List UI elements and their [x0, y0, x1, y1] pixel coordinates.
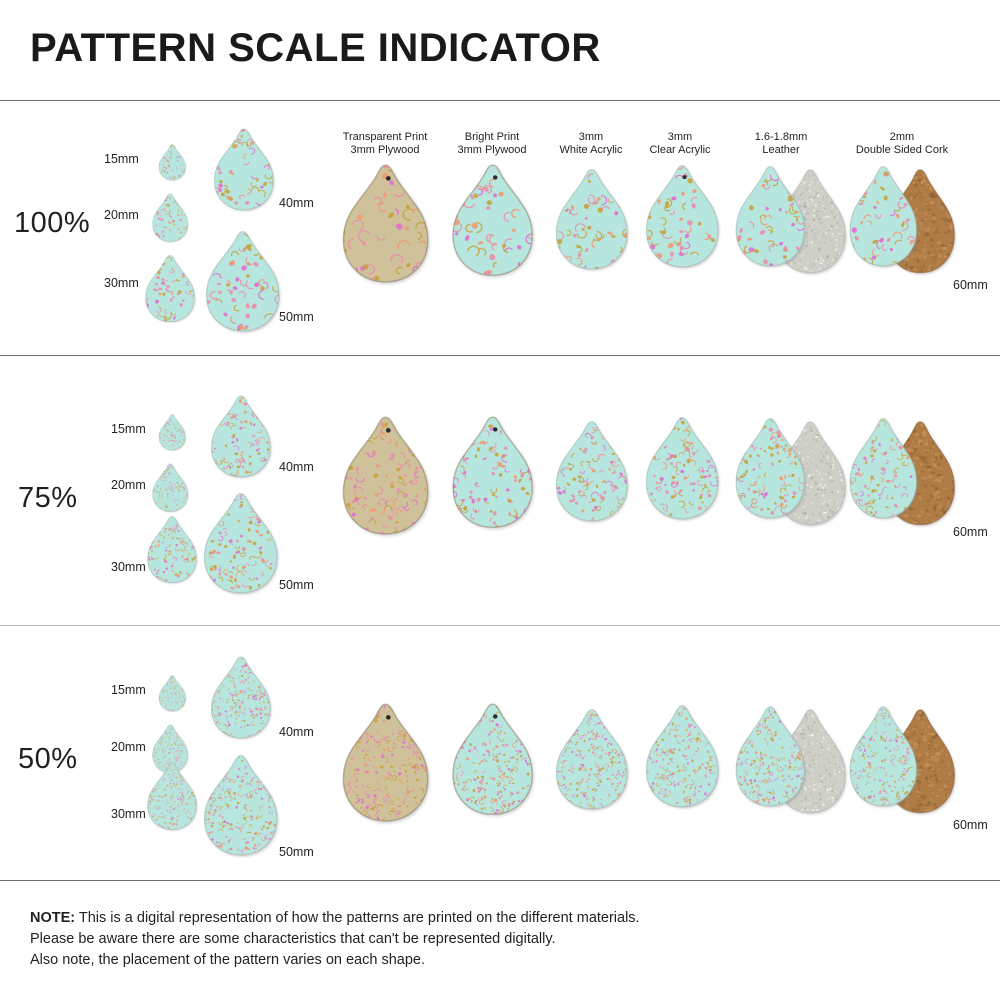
- column-header-double-sided-cork: 2mm Double Sided Cork: [832, 131, 972, 157]
- material-drop-cork-row75: [845, 415, 923, 523]
- page-title: PATTERN SCALE INDICATOR: [30, 28, 601, 68]
- scale-label-100: 100%: [14, 207, 90, 240]
- column-header-line1: Transparent Print: [343, 131, 428, 143]
- divider-row-100-75: [0, 355, 1000, 356]
- size-label-15mm-row50: 15mm: [111, 683, 146, 697]
- divider-top: [0, 100, 1000, 101]
- material-drop-white-acrylic-row50: [551, 706, 634, 814]
- size-label-15mm-row100: 15mm: [104, 152, 139, 166]
- note-line-3: Also note, the placement of the pattern …: [30, 950, 640, 971]
- material-drop-leather-row100: [731, 163, 811, 271]
- divider-row-75-50: [0, 625, 1000, 626]
- divider-bottom: [0, 880, 1000, 881]
- size-label-30mm-row50: 30mm: [111, 807, 146, 821]
- size-label-30mm-row75: 30mm: [111, 560, 146, 574]
- column-header-line2: Double Sided Cork: [832, 144, 972, 157]
- size-label-20mm-row75: 20mm: [111, 478, 146, 492]
- size-label-40mm-row75: 40mm: [279, 460, 314, 474]
- size-label-15mm-row75: 15mm: [111, 422, 146, 436]
- material-drop-clear-acrylic-row50: [641, 702, 725, 812]
- material-drop-leather-row50: [731, 703, 811, 811]
- size-label-50mm-row75: 50mm: [279, 578, 314, 592]
- size-label-50mm-row50: 50mm: [279, 845, 314, 859]
- size-label-40mm-row50: 40mm: [279, 725, 314, 739]
- note-line-1: NOTE: This is a digital representation o…: [30, 908, 640, 929]
- size-label-20mm-row100: 20mm: [104, 208, 139, 222]
- sample-drop-30mm-row75: [144, 514, 201, 586]
- sample-drop-30mm-row50: [144, 761, 201, 833]
- column-header-leather: 1.6-1.8mm Leather: [711, 131, 851, 157]
- material-drop-white-acrylic-row75: [551, 418, 634, 526]
- sample-drop-40mm-row75: [207, 393, 276, 481]
- sample-drop-40mm-row50: [207, 654, 276, 742]
- size-label-60mm-row50: 60mm: [953, 818, 988, 832]
- size-label-40mm-row100: 40mm: [279, 196, 314, 210]
- sample-drop-40mm-row100: [210, 126, 279, 214]
- material-drop-bright-print-plywood-row100: [447, 161, 540, 281]
- scale-label-50: 50%: [18, 743, 78, 776]
- column-header-line1: 3mm: [668, 131, 692, 143]
- column-header-line2: Leather: [711, 144, 851, 157]
- material-drop-cork-row50: [845, 703, 923, 811]
- sample-drop-50mm-row100: [201, 228, 286, 336]
- sample-drop-50mm-row75: [199, 490, 284, 598]
- size-label-30mm-row100: 30mm: [104, 276, 139, 290]
- column-header-line1: 1.6-1.8mm: [755, 131, 808, 143]
- sample-drop-50mm-row50: [199, 752, 284, 860]
- note-label: NOTE:: [30, 910, 75, 926]
- column-header-line1: Bright Print: [465, 131, 519, 143]
- material-drop-clear-acrylic-row100: [641, 162, 725, 272]
- sample-drop-20mm-row100: [150, 192, 191, 244]
- material-drop-transparent-print-plywood-row100: [337, 161, 436, 288]
- material-drop-white-acrylic-row100: [551, 166, 634, 274]
- material-drop-cork-row100: [845, 163, 923, 271]
- pattern-scale-indicator-page: PATTERN SCALE INDICATOR Transparent Prin…: [0, 0, 1000, 1000]
- scale-label-75: 75%: [18, 482, 78, 515]
- note-line1-text: This is a digital representation of how …: [75, 910, 639, 926]
- material-drop-bright-print-plywood-row75: [447, 413, 540, 533]
- sample-drop-15mm-row50: [157, 674, 188, 713]
- material-drop-leather-row75: [731, 415, 811, 523]
- material-drop-bright-print-plywood-row50: [447, 700, 540, 820]
- column-header-line1: 3mm: [579, 131, 603, 143]
- material-drop-transparent-print-plywood-row50: [337, 700, 436, 827]
- sample-drop-30mm-row100: [142, 253, 199, 325]
- size-label-60mm-row100: 60mm: [953, 278, 988, 292]
- column-header-line1: 2mm: [890, 131, 914, 143]
- sample-drop-15mm-row75: [157, 413, 188, 452]
- note-block: NOTE: This is a digital representation o…: [30, 908, 640, 971]
- material-drop-transparent-print-plywood-row75: [337, 413, 436, 540]
- sample-drop-20mm-row75: [150, 462, 191, 514]
- material-drop-clear-acrylic-row75: [641, 414, 725, 524]
- size-label-20mm-row50: 20mm: [111, 740, 146, 754]
- sample-drop-15mm-row100: [157, 143, 188, 182]
- note-line-2: Please be aware there are some character…: [30, 929, 640, 950]
